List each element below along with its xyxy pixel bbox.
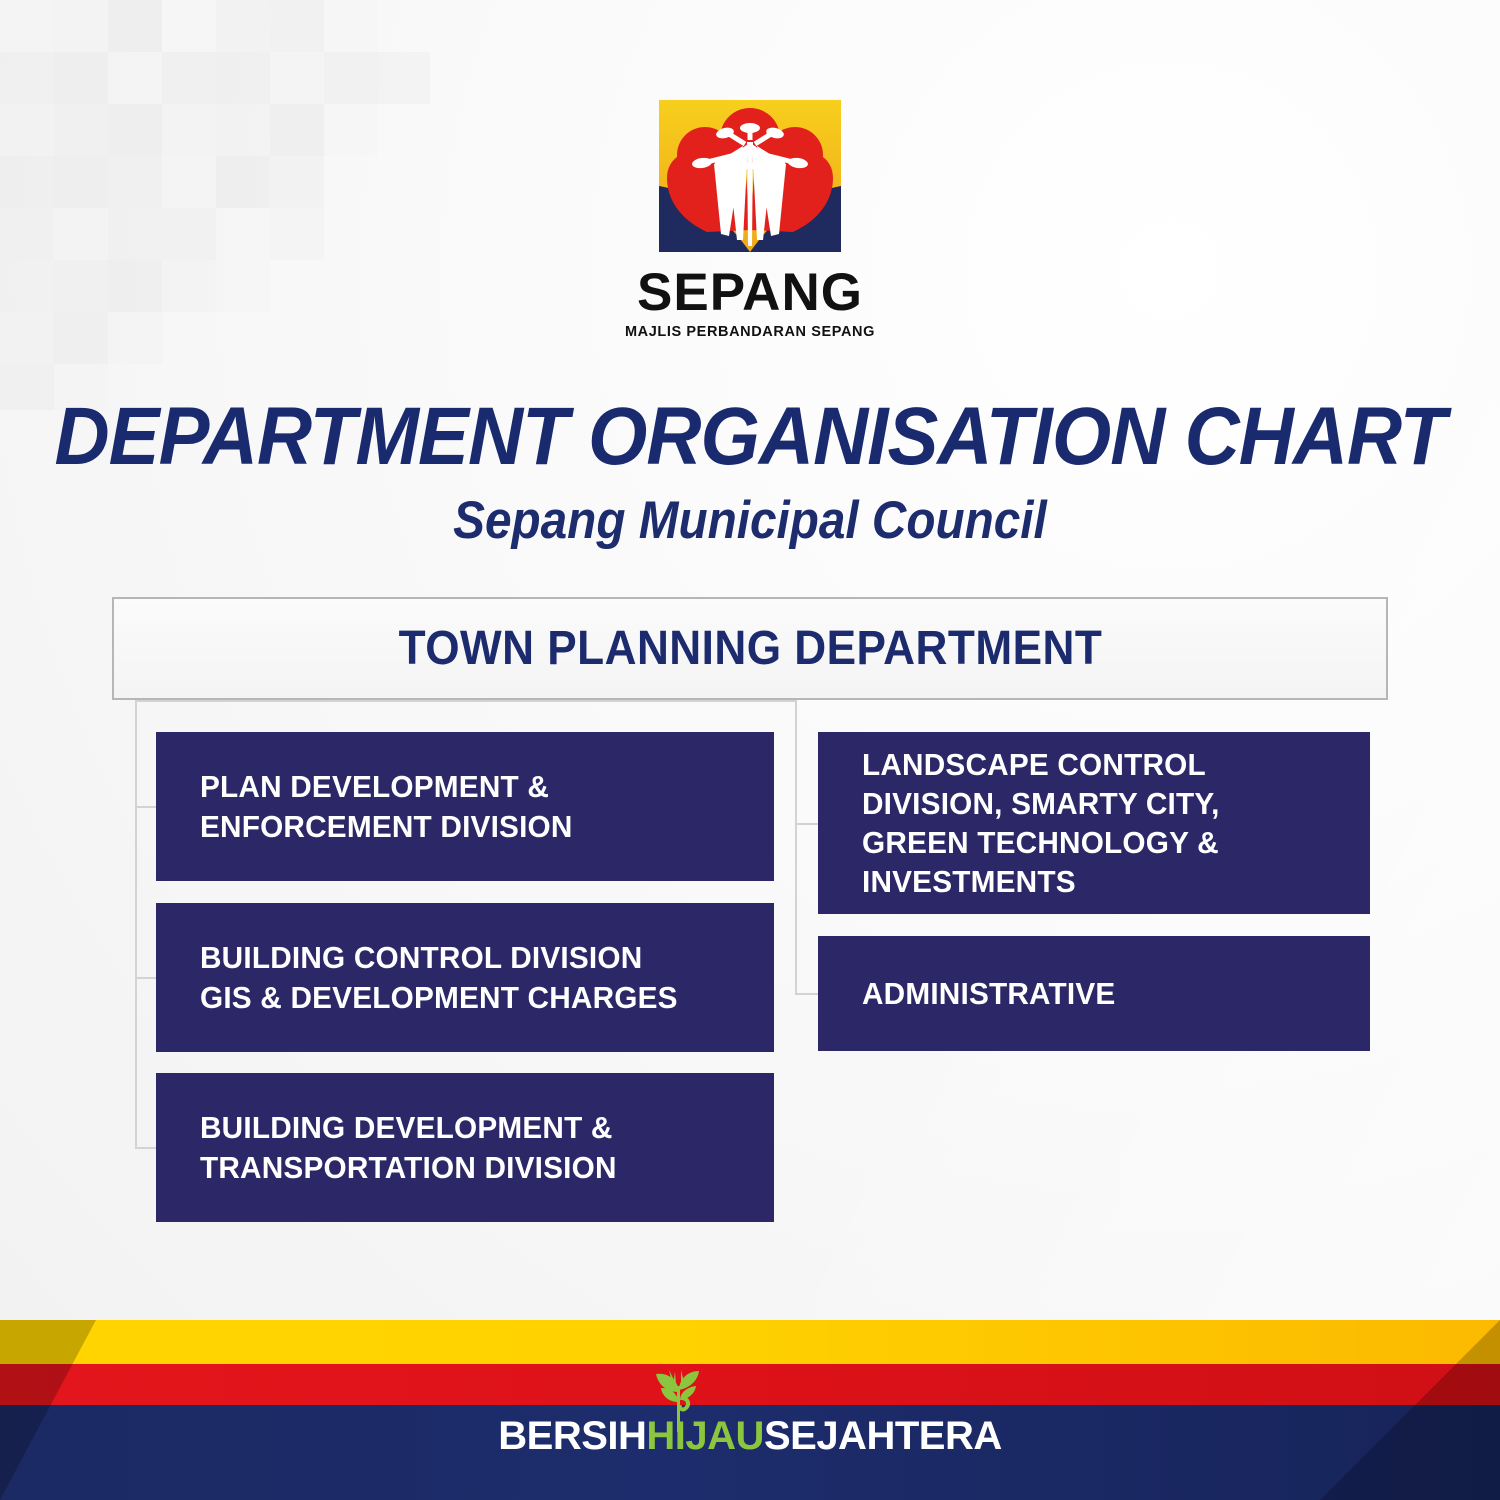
connector-root-to-right <box>135 700 797 702</box>
connector-left-trunk <box>135 700 137 1148</box>
org-node-administrative[interactable]: ADMINISTRATIVE <box>818 936 1370 1051</box>
org-node-landscape-control[interactable]: LANDSCAPE CONTROL DIVISION, SMARTY CITY,… <box>818 732 1370 914</box>
connector-left-stub-bdt <box>135 1147 158 1149</box>
footer-stripe-yellow <box>0 1320 1500 1364</box>
footer-tagline: BERSIH HIJAU SEJAHTERA <box>0 1416 1500 1456</box>
org-root-label: TOWN PLANNING DEPARTMENT <box>398 621 1102 676</box>
poster-canvas: SEPANG MAJLIS PERBANDARAN SEPANG DEPARTM… <box>0 0 1500 1500</box>
org-node-building-control[interactable]: BUILDING CONTROL DIVISION GIS & DEVELOPM… <box>156 903 774 1052</box>
org-node-label: LANDSCAPE CONTROL DIVISION, SMARTY CITY,… <box>862 745 1307 901</box>
connector-left-stub-bcd <box>135 977 158 979</box>
connector-right-stub-landscape <box>795 823 820 825</box>
org-node-building-development-transportation[interactable]: BUILDING DEVELOPMENT & TRANSPORTATION DI… <box>156 1073 774 1222</box>
connector-right-trunk <box>795 700 797 994</box>
org-node-label: BUILDING DEVELOPMENT & TRANSPORTATION DI… <box>200 1108 709 1186</box>
connector-left-stub-plan <box>135 806 158 808</box>
tagline-bersih: BERSIH <box>498 1416 646 1456</box>
org-node-plan-development[interactable]: PLAN DEVELOPMENT & ENFORCEMENT DIVISION <box>156 732 774 881</box>
footer-stripe-red <box>0 1364 1500 1405</box>
org-node-label: BUILDING CONTROL DIVISION GIS & DEVELOPM… <box>200 938 678 1016</box>
footer-banner: BERSIH HIJAU SEJAHTERA <box>0 1320 1500 1500</box>
connector-right-stub-admin <box>795 993 820 995</box>
org-node-label: ADMINISTRATIVE <box>862 974 1115 1013</box>
org-chart: TOWN PLANNING DEPARTMENT PLAN DEVELOPMEN… <box>0 0 1500 1500</box>
tagline-sejahtera: SEJAHTERA <box>764 1416 1002 1456</box>
plant-sprout-icon <box>648 1368 706 1432</box>
org-node-label: PLAN DEVELOPMENT & ENFORCEMENT DIVISION <box>200 767 709 845</box>
org-root-node: TOWN PLANNING DEPARTMENT <box>112 597 1388 700</box>
